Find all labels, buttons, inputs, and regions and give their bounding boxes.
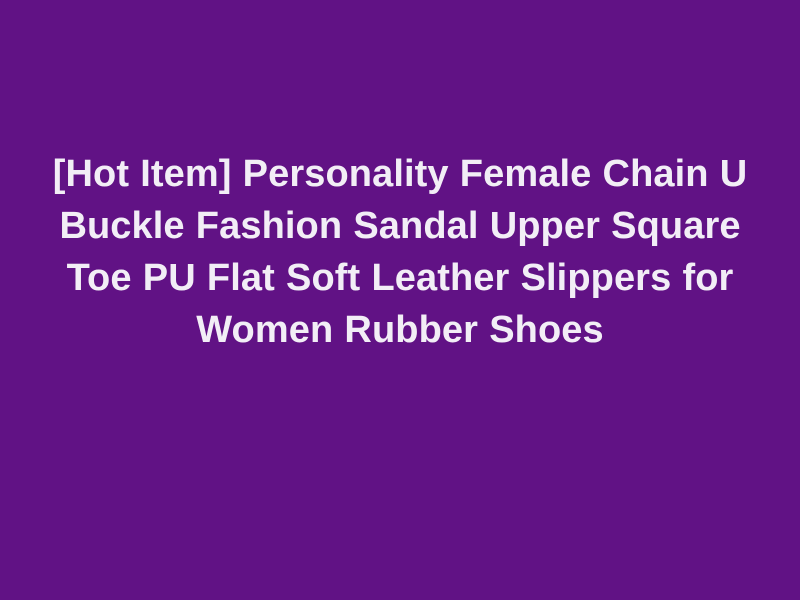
product-title-headline: [Hot Item] Personality Female Chain U Bu… [40, 148, 760, 356]
title-text-block: [Hot Item] Personality Female Chain U Bu… [40, 148, 760, 356]
product-title-card: [Hot Item] Personality Female Chain U Bu… [0, 0, 800, 600]
